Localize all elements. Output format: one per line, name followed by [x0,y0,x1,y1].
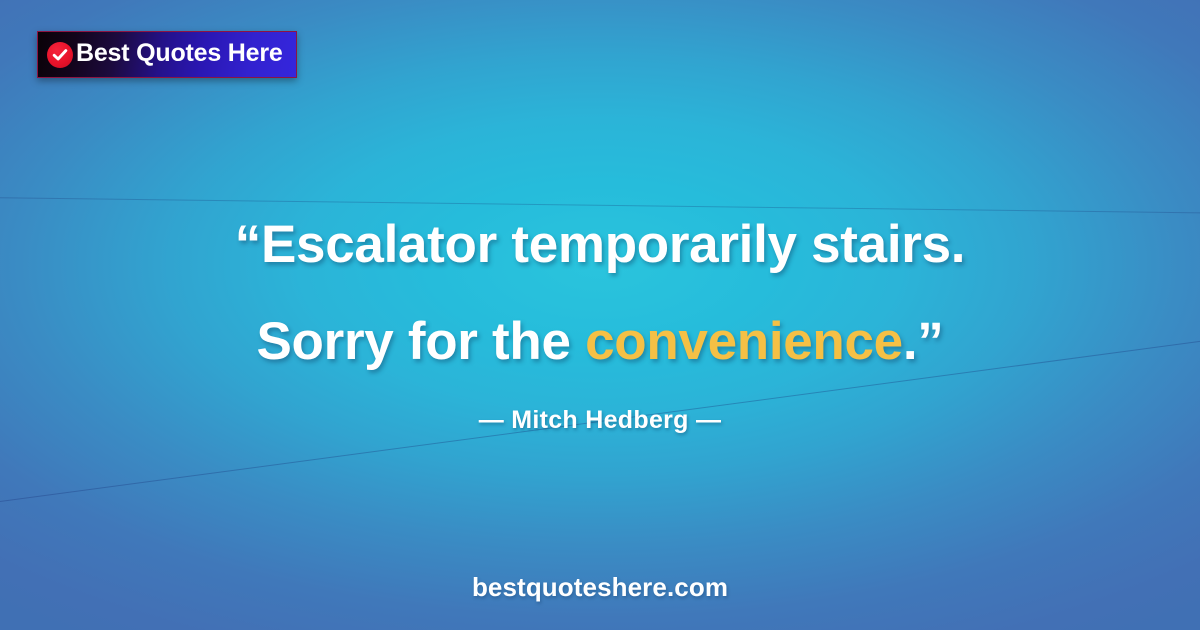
quote-line-1: “Escalator temporarily stairs. [0,196,1200,293]
quote-attribution: — Mitch Hedberg — [0,406,1200,435]
check-circle-icon [47,42,73,68]
quote-text-block: “Escalator temporarily stairs. Sorry for… [0,196,1200,390]
brand-badge[interactable]: Best Quotes Here [37,31,297,78]
quote-highlight-word: convenience [585,312,903,371]
quote-card: Best Quotes Here “Escalator temporarily … [0,0,1200,630]
site-url: bestquoteshere.com [0,572,1200,603]
quote-line-2: Sorry for the convenience.” [0,293,1200,390]
quote-line-2-suffix: .” [903,312,944,371]
brand-badge-label: Best Quotes Here [76,41,283,68]
quote-line-2-prefix: Sorry for the [257,312,586,371]
